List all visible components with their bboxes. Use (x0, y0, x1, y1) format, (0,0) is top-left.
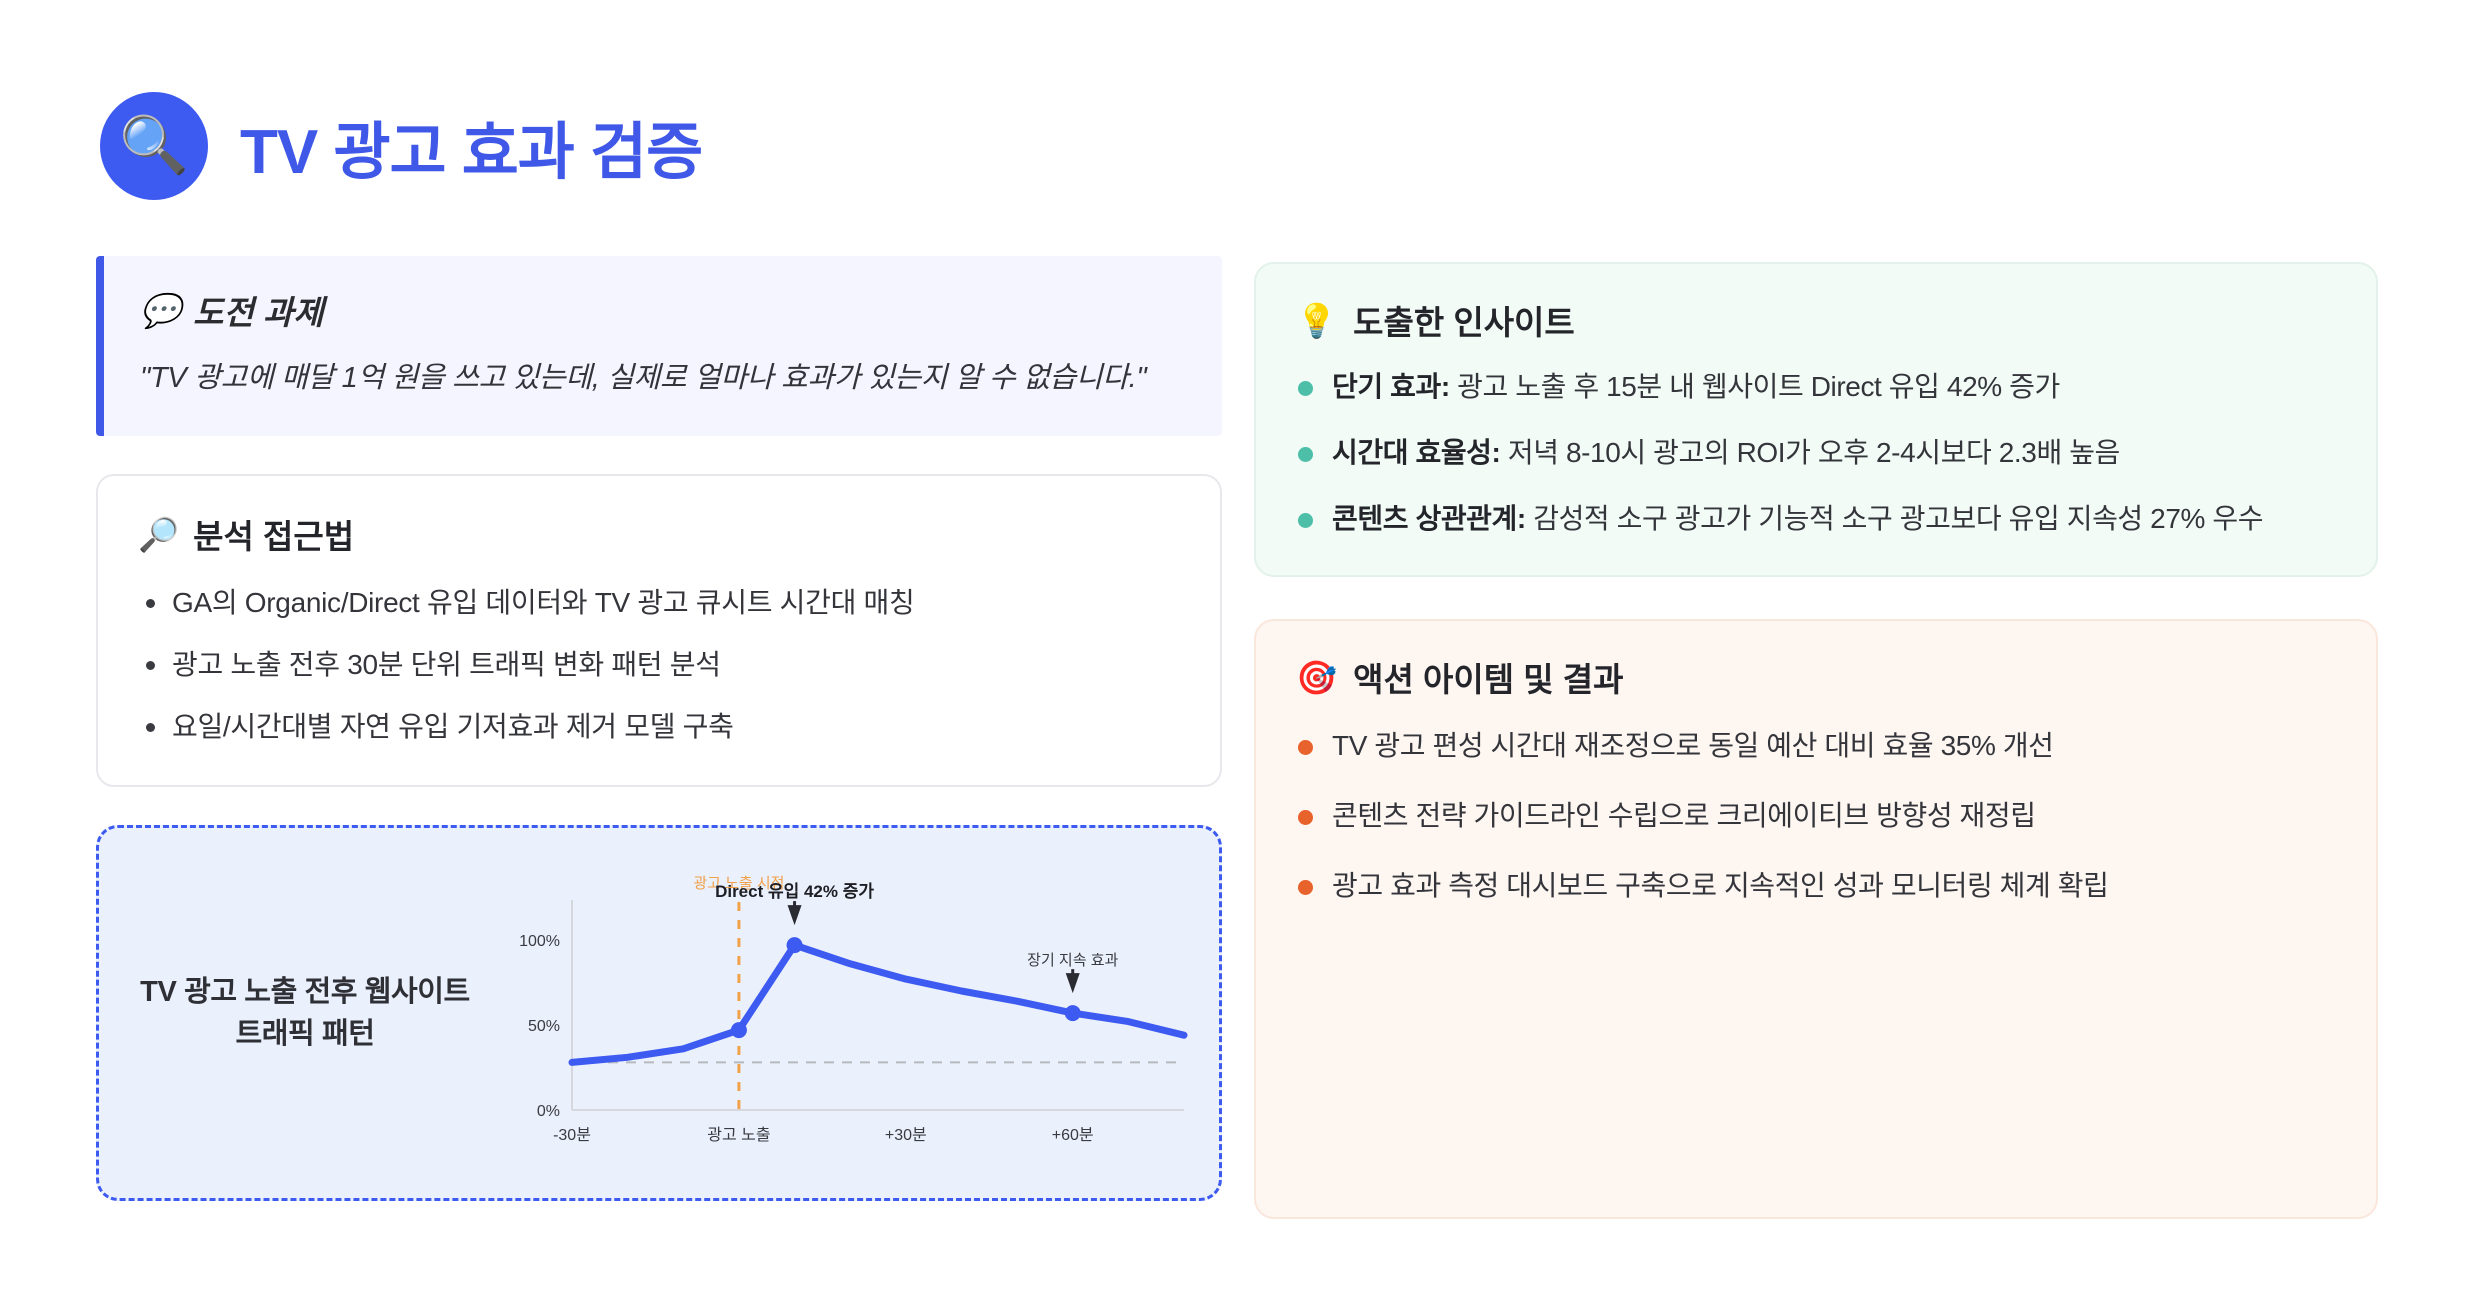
traffic-line-chart: 0%50%100%-30분광고 노출+30분+60분광고 노출 시점Direct… (485, 848, 1203, 1178)
challenge-card: 💬 도전 과제 "TV 광고에 매달 1억 원을 쓰고 있는데, 실제로 얼마나… (96, 256, 1222, 436)
y-tick-label: 100% (519, 933, 560, 950)
data-point-marker (787, 938, 803, 954)
list-item: TV 광고 편성 시간대 재조정으로 동일 예산 대비 효율 35% 개선 (1296, 727, 2336, 765)
approach-list: GA의 Organic/Direct 유입 데이터와 TV 광고 큐시트 시간대… (138, 584, 1180, 745)
action-items-title-text: 액션 아이템 및 결과 (1353, 653, 1623, 701)
insights-heading: 💡 도출한 인사이트 (1296, 296, 2336, 344)
approach-card: 🔎 분석 접근법 GA의 Organic/Direct 유입 데이터와 TV 광… (96, 474, 1222, 787)
insight-lead: 단기 효과: (1332, 371, 1450, 402)
y-tick-label: 0% (537, 1103, 560, 1120)
action-items-heading: 🎯 액션 아이템 및 결과 (1296, 653, 2336, 701)
chart-card: TV 광고 노출 전후 웹사이트 트래픽 패턴 0%50%100%-30분광고 … (96, 825, 1222, 1201)
approach-heading: 🔎 분석 접근법 (138, 510, 1180, 558)
insights-list: 단기 효과: 광고 노출 후 15분 내 웹사이트 Direct 유입 42% … (1296, 368, 2336, 537)
insight-text: 감성적 소구 광고가 기능적 소구 광고보다 유입 지속성 27% 우수 (1526, 503, 2263, 534)
chart-annotation-label: 장기 지속 효과 (1027, 953, 1118, 970)
data-point-marker (731, 1023, 747, 1039)
x-tick-label: -30분 (553, 1127, 591, 1144)
list-item: 광고 효과 측정 대시보드 구축으로 지속적인 성과 모니터링 체계 확립 (1296, 867, 2336, 905)
speech-bubble-icon: 💬 (140, 294, 181, 327)
list-item: GA의 Organic/Direct 유입 데이터와 TV 광고 큐시트 시간대… (138, 584, 1180, 622)
action-items-list: TV 광고 편성 시간대 재조정으로 동일 예산 대비 효율 35% 개선 콘텐… (1296, 727, 2336, 904)
insights-card: 💡 도출한 인사이트 단기 효과: 광고 노출 후 15분 내 웹사이트 Dir… (1254, 262, 2378, 577)
magnifying-glass-icon: 🔍 (119, 118, 189, 174)
chart-svg: 0%50%100%-30분광고 노출+30분+60분광고 노출 시점Direct… (485, 848, 1203, 1178)
x-tick-label: 광고 노출 (707, 1126, 770, 1144)
data-point-marker (1065, 1006, 1081, 1022)
y-tick-label: 50% (528, 1018, 560, 1035)
insight-text: 저녁 8-10시 광고의 ROI가 오후 2-4시보다 2.3배 높음 (1500, 437, 2119, 468)
list-item: 콘텐츠 전략 가이드라인 수립으로 크리에이티브 방향성 재정립 (1296, 797, 2336, 835)
x-tick-label: +30분 (885, 1127, 927, 1144)
challenge-heading: 💬 도전 과제 (140, 286, 1186, 334)
list-item: 콘텐츠 상관관계: 감성적 소구 광고가 기능적 소구 광고보다 유입 지속성 … (1296, 500, 2336, 538)
magnifier-icon: 🔎 (138, 518, 179, 551)
action-items-card: 🎯 액션 아이템 및 결과 TV 광고 편성 시간대 재조정으로 동일 예산 대… (1254, 619, 2378, 1219)
chart-caption: TV 광고 노출 전후 웹사이트 트래픽 패턴 (125, 971, 485, 1055)
insight-lead: 콘텐츠 상관관계: (1332, 503, 1526, 534)
challenge-title-text: 도전 과제 (193, 286, 324, 334)
list-item: 요일/시간대별 자연 유입 기저효과 제거 모델 구축 (138, 708, 1180, 746)
insights-title-text: 도출한 인사이트 (1353, 296, 1575, 344)
x-tick-label: +60분 (1052, 1127, 1094, 1144)
dart-target-icon: 🎯 (1296, 661, 1337, 694)
page-header: 🔍 TV 광고 효과 검증 (100, 92, 702, 200)
page-title: TV 광고 효과 검증 (240, 101, 702, 191)
header-badge: 🔍 (100, 92, 208, 200)
list-item: 광고 노출 전후 30분 단위 트래픽 변화 패턴 분석 (138, 646, 1180, 684)
right-column: 💡 도출한 인사이트 단기 효과: 광고 노출 후 15분 내 웹사이트 Dir… (1254, 262, 2378, 1219)
light-bulb-icon: 💡 (1296, 304, 1337, 337)
slide-root: 🔍 TV 광고 효과 검증 💬 도전 과제 "TV 광고에 매달 1억 원을 쓰… (0, 0, 2470, 1300)
list-item: 단기 효과: 광고 노출 후 15분 내 웹사이트 Direct 유입 42% … (1296, 368, 2336, 406)
left-column: 💬 도전 과제 "TV 광고에 매달 1억 원을 쓰고 있는데, 실제로 얼마나… (96, 256, 1222, 1201)
insight-lead: 시간대 효율성: (1332, 437, 1500, 468)
approach-title-text: 분석 접근법 (193, 510, 354, 558)
chart-annotation-label: Direct 유입 42% 증가 (715, 883, 874, 902)
challenge-quote: "TV 광고에 매달 1억 원을 쓰고 있는데, 실제로 얼마나 효과가 있는지… (140, 356, 1186, 400)
list-item: 시간대 효율성: 저녁 8-10시 광고의 ROI가 오후 2-4시보다 2.3… (1296, 434, 2336, 472)
insight-text: 광고 노출 후 15분 내 웹사이트 Direct 유입 42% 증가 (1450, 371, 2060, 402)
